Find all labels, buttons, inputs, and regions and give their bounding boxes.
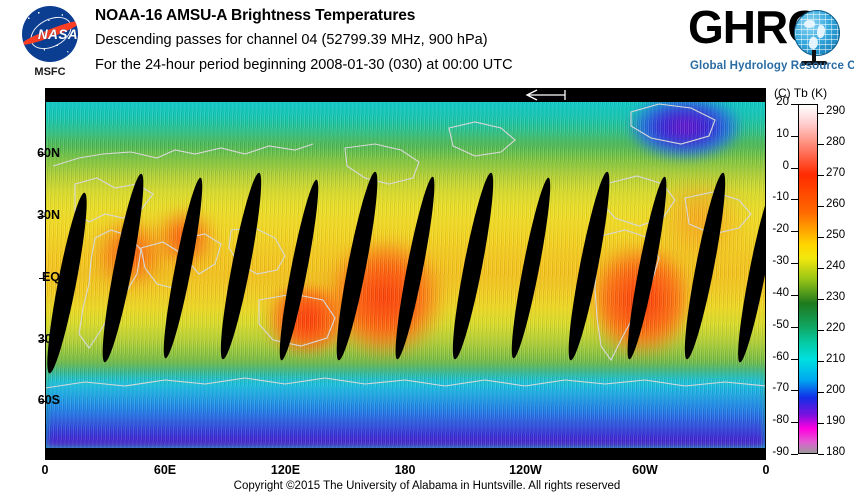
colorbar-label-celsius: -40 (762, 287, 789, 299)
colorbar-label-kelvin: 270 (826, 167, 854, 179)
colorbar-tick-kelvin (818, 392, 824, 393)
page-title: NOAA-16 AMSU-A Brightness Temperatures (95, 7, 415, 25)
colorbar-label-celsius: 20 (762, 96, 789, 108)
colorbar-label-celsius: -30 (762, 255, 789, 267)
xtick-label-120w: 120W (503, 463, 548, 477)
colorbar-tick-celsius (791, 136, 798, 137)
colorbar-tick-kelvin (818, 113, 824, 114)
globe-landmass (803, 19, 815, 29)
colorbar-label-celsius: -90 (762, 446, 789, 458)
xtick-label-60e: 60E (145, 463, 185, 477)
nasa-meatball-icon: NASA (22, 6, 78, 62)
nasa-wordmark: NASA (31, 27, 78, 42)
xtick-label-180: 180 (385, 463, 425, 477)
colorbar-label-kelvin: 200 (826, 384, 854, 396)
colorbar-label-kelvin: 260 (826, 198, 854, 210)
colorbar-label-celsius: -60 (762, 351, 789, 363)
colorbar-tick-celsius (791, 422, 798, 423)
colorbar-tick-kelvin (818, 237, 824, 238)
colorbar-label-kelvin: 290 (826, 105, 854, 117)
colorbar-label-kelvin: 220 (826, 322, 854, 334)
colorbar-tick-celsius (791, 231, 798, 232)
ghrc-tagline: Global Hydrology Resource Center (690, 60, 854, 72)
ghrc-logo: GHRC Global Hydrology Resource Center (688, 4, 848, 78)
colorbar-tick-kelvin (818, 361, 824, 362)
xtick-label-0-right: 0 (751, 463, 781, 477)
colorbar-label-kelvin: 230 (826, 291, 854, 303)
colorbar-tick-kelvin (818, 175, 824, 176)
colorbar-label-kelvin: 250 (826, 229, 854, 241)
colorbar-gradient (798, 104, 818, 454)
xtick-label-60w: 60W (625, 463, 665, 477)
colorbar-label-kelvin: 190 (826, 415, 854, 427)
orbital-data-gaps (45, 88, 766, 460)
colorbar-label-celsius: -70 (762, 382, 789, 394)
page-subtitle-period: For the 24-hour period beginning 2008-01… (95, 57, 513, 73)
globe-landmass (817, 25, 825, 38)
colorbar-label-celsius: -80 (762, 414, 789, 426)
colorbar-label-kelvin: 210 (826, 353, 854, 365)
colorbar-tick-celsius (791, 359, 798, 360)
colorbar-tick-kelvin (818, 206, 824, 207)
colorbar-tick-celsius (791, 295, 798, 296)
colorbar-tick-celsius (791, 327, 798, 328)
colorbar-tick-celsius (791, 168, 798, 169)
colorbar-tick-kelvin (818, 268, 824, 269)
page-subtitle-channel: Descending passes for channel 04 (52799.… (95, 32, 488, 48)
nasa-logo: NASA MSFC (14, 6, 86, 84)
colorbar-tick-kelvin (818, 454, 824, 455)
colorbar-label-celsius: -50 (762, 319, 789, 331)
colorbar-tick-kelvin (818, 299, 824, 300)
globe-icon (794, 10, 840, 56)
colorbar-label-celsius: 10 (762, 128, 789, 140)
colorbar-label-celsius: 0 (762, 160, 789, 172)
colorbar-tick-celsius (791, 199, 798, 200)
colorbar-tick-kelvin (818, 423, 824, 424)
colorbar-tick-celsius (791, 454, 798, 455)
global-temperature-map (45, 88, 766, 460)
xtick-label-120e: 120E (263, 463, 308, 477)
nasa-center-label: MSFC (14, 66, 86, 78)
colorbar-tick-celsius (791, 390, 798, 391)
page-header: NASA MSFC NOAA-16 AMSU-A Brightness Temp… (0, 0, 854, 86)
colorbar-label-kelvin: 180 (826, 446, 854, 458)
colorbar-label-celsius: -20 (762, 223, 789, 235)
colorbar-label-celsius: -10 (762, 191, 789, 203)
colorbar-tick-celsius (791, 263, 798, 264)
globe-landmass (808, 36, 820, 50)
colorbar-tick-celsius (791, 104, 798, 105)
colorbar-label-kelvin: 280 (826, 136, 854, 148)
colorbar-tick-kelvin (818, 144, 824, 145)
descending-direction-arrow-icon (523, 88, 583, 102)
colorbar-tick-kelvin (818, 330, 824, 331)
colorbar-label-kelvin: 240 (826, 260, 854, 272)
copyright-notice: Copyright ©2015 The University of Alabam… (0, 480, 854, 492)
xtick-label-0-left: 0 (30, 463, 60, 477)
